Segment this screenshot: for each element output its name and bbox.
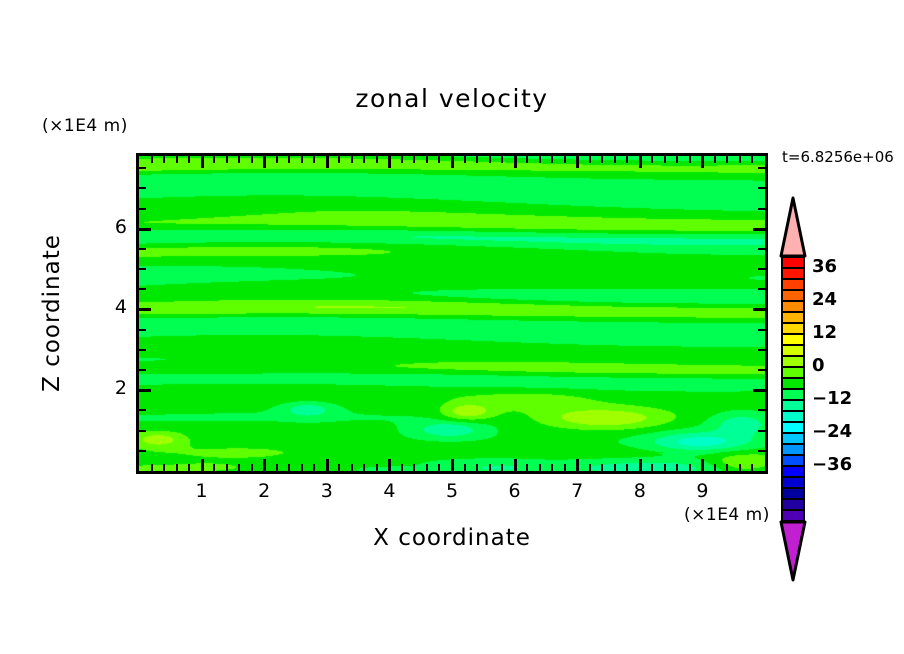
x-tick-mark xyxy=(676,464,678,471)
y-tick-mark xyxy=(139,450,146,452)
x-tick-mark xyxy=(301,156,303,163)
x-tick-mark xyxy=(751,464,753,471)
colorbar-tick-label: −24 xyxy=(812,421,852,442)
y-axis-title: Z coordinate xyxy=(39,203,65,423)
x-tick-mark xyxy=(676,156,678,163)
x-tick-label: 5 xyxy=(432,480,472,502)
x-tick-mark xyxy=(438,156,440,163)
x-tick-mark xyxy=(263,459,266,471)
x-tick-mark xyxy=(438,464,440,471)
x-tick-mark xyxy=(489,464,491,471)
x-tick-mark xyxy=(714,464,716,471)
x-tick-label: 6 xyxy=(495,480,535,502)
x-tick-mark xyxy=(426,464,428,471)
y-tick-mark xyxy=(139,409,146,411)
x-tick-mark xyxy=(526,464,528,471)
x-tick-mark xyxy=(313,464,315,471)
y-tick-mark xyxy=(758,248,765,250)
x-tick-mark xyxy=(701,156,704,168)
x-tick-mark xyxy=(163,156,165,163)
x-tick-mark xyxy=(163,464,165,471)
y-tick-mark xyxy=(139,369,146,371)
y-tick-mark xyxy=(758,369,765,371)
y-tick-mark xyxy=(753,228,765,231)
x-tick-mark xyxy=(614,156,616,163)
x-tick-mark xyxy=(363,464,365,471)
x-tick-mark xyxy=(413,464,415,471)
y-tick-mark xyxy=(139,308,151,311)
page-title: zonal velocity xyxy=(0,84,904,113)
x-tick-mark xyxy=(614,464,616,471)
y-tick-mark xyxy=(139,167,146,169)
x-tick-mark xyxy=(514,459,517,471)
x-tick-mark xyxy=(501,156,503,163)
x-tick-mark xyxy=(451,156,454,168)
x-tick-mark xyxy=(689,156,691,163)
x-tick-mark xyxy=(551,464,553,471)
x-tick-mark xyxy=(288,464,290,471)
y-tick-mark xyxy=(758,208,765,210)
x-tick-mark xyxy=(651,464,653,471)
x-tick-mark xyxy=(238,464,240,471)
x-tick-mark xyxy=(626,156,628,163)
y-tick-mark xyxy=(139,430,146,432)
y-tick-mark xyxy=(139,228,151,231)
x-tick-mark xyxy=(501,464,503,471)
x-tick-mark xyxy=(388,156,391,168)
x-tick-label: 1 xyxy=(182,480,222,502)
colorbar: 3624120−12−24−36 xyxy=(778,196,808,580)
y-tick-mark xyxy=(139,187,146,189)
y-tick-label: 2 xyxy=(87,377,127,399)
y-tick-label: 6 xyxy=(87,216,127,238)
x-tick-mark xyxy=(476,156,478,163)
x-tick-mark xyxy=(363,156,365,163)
x-tick-mark xyxy=(176,156,178,163)
colorbar-tick-label: 24 xyxy=(812,289,837,310)
time-annotation: t=6.8256e+06 xyxy=(782,148,894,166)
colorbar-tick-label: 12 xyxy=(812,322,837,343)
y-tick-mark xyxy=(758,329,765,331)
x-tick-mark xyxy=(514,156,517,168)
x-tick-mark xyxy=(664,156,666,163)
x-tick-mark xyxy=(726,464,728,471)
x-tick-mark xyxy=(151,464,153,471)
y-tick-mark xyxy=(758,430,765,432)
x-tick-mark xyxy=(176,464,178,471)
x-tick-mark xyxy=(413,156,415,163)
x-tick-mark xyxy=(388,459,391,471)
x-tick-mark xyxy=(351,464,353,471)
x-tick-mark xyxy=(376,464,378,471)
x-tick-mark xyxy=(276,464,278,471)
x-tick-label: 8 xyxy=(620,480,660,502)
y-tick-mark xyxy=(758,167,765,169)
x-tick-mark xyxy=(251,464,253,471)
y-tick-mark xyxy=(139,349,146,351)
figure-canvas: zonal velocity (×1E4 m) (×1E4 m) 1234567… xyxy=(0,0,904,654)
x-tick-label: 2 xyxy=(244,480,284,502)
x-tick-mark xyxy=(426,156,428,163)
y-tick-mark xyxy=(139,208,146,210)
y-tick-mark xyxy=(758,288,765,290)
x-tick-mark xyxy=(451,459,454,471)
x-tick-label: 3 xyxy=(307,480,347,502)
x-tick-mark xyxy=(201,156,204,168)
x-tick-mark xyxy=(326,459,329,471)
x-tick-mark xyxy=(188,464,190,471)
x-tick-mark xyxy=(201,459,204,471)
x-tick-mark xyxy=(326,156,329,168)
y-tick-mark xyxy=(758,268,765,270)
x-tick-mark xyxy=(639,459,642,471)
x-tick-mark xyxy=(338,464,340,471)
x-tick-mark xyxy=(213,464,215,471)
x-tick-mark xyxy=(276,156,278,163)
x-tick-mark xyxy=(188,156,190,163)
x-tick-mark xyxy=(476,464,478,471)
y-tick-mark xyxy=(753,308,765,311)
contour-plot-area xyxy=(136,153,768,474)
x-tick-mark xyxy=(576,156,579,168)
y-tick-mark xyxy=(139,268,146,270)
x-tick-mark xyxy=(626,464,628,471)
y-tick-label: 4 xyxy=(87,296,127,318)
x-tick-mark xyxy=(401,464,403,471)
x-tick-mark xyxy=(338,156,340,163)
x-tick-mark xyxy=(401,156,403,163)
x-tick-mark xyxy=(564,156,566,163)
x-tick-mark xyxy=(701,459,704,471)
y-tick-mark xyxy=(758,450,765,452)
x-tick-mark xyxy=(464,464,466,471)
y-tick-mark xyxy=(758,409,765,411)
x-tick-mark xyxy=(739,464,741,471)
x-tick-mark xyxy=(601,464,603,471)
x-tick-mark xyxy=(726,156,728,163)
x-tick-mark xyxy=(576,459,579,471)
colorbar-tick-label: −36 xyxy=(812,454,852,475)
y-tick-mark xyxy=(139,389,151,392)
x-tick-mark xyxy=(601,156,603,163)
x-tick-mark xyxy=(288,156,290,163)
y-tick-mark xyxy=(139,288,146,290)
x-tick-mark xyxy=(589,464,591,471)
y-axis-unit-label: (×1E4 m) xyxy=(42,116,128,136)
colorbar-bands xyxy=(781,256,805,522)
x-tick-mark xyxy=(301,464,303,471)
y-tick-mark xyxy=(758,349,765,351)
colorbar-tick-label: 0 xyxy=(812,355,825,376)
x-tick-mark xyxy=(551,156,553,163)
colorbar-under-arrow xyxy=(778,520,808,582)
x-tick-mark xyxy=(751,156,753,163)
x-tick-mark xyxy=(151,156,153,163)
x-tick-mark xyxy=(351,156,353,163)
x-tick-mark xyxy=(226,156,228,163)
x-tick-label: 7 xyxy=(557,480,597,502)
x-tick-mark xyxy=(689,464,691,471)
x-tick-mark xyxy=(526,156,528,163)
x-tick-mark xyxy=(539,156,541,163)
x-axis-title: X coordinate xyxy=(0,525,904,551)
x-tick-mark xyxy=(639,156,642,168)
colorbar-over-arrow xyxy=(778,196,808,258)
x-tick-mark xyxy=(664,464,666,471)
x-tick-mark xyxy=(313,156,315,163)
x-tick-mark xyxy=(376,156,378,163)
x-tick-mark xyxy=(651,156,653,163)
x-axis-unit-label: (×1E4 m) xyxy=(684,505,770,525)
x-tick-label: 9 xyxy=(682,480,722,502)
x-tick-mark xyxy=(213,156,215,163)
y-tick-mark xyxy=(758,187,765,189)
x-tick-mark xyxy=(714,156,716,163)
x-tick-mark xyxy=(226,464,228,471)
y-tick-mark xyxy=(139,329,146,331)
x-tick-mark xyxy=(564,464,566,471)
colorbar-tick-label: −12 xyxy=(812,388,852,409)
x-tick-mark xyxy=(263,156,266,168)
x-tick-label: 4 xyxy=(369,480,409,502)
x-tick-mark xyxy=(739,156,741,163)
y-tick-mark xyxy=(139,248,146,250)
y-tick-mark xyxy=(753,389,765,392)
x-tick-mark xyxy=(489,156,491,163)
x-tick-mark xyxy=(539,464,541,471)
x-tick-mark xyxy=(464,156,466,163)
contour-field xyxy=(139,156,765,471)
x-tick-mark xyxy=(238,156,240,163)
x-tick-mark xyxy=(251,156,253,163)
x-tick-mark xyxy=(589,156,591,163)
colorbar-tick-label: 36 xyxy=(812,256,837,277)
